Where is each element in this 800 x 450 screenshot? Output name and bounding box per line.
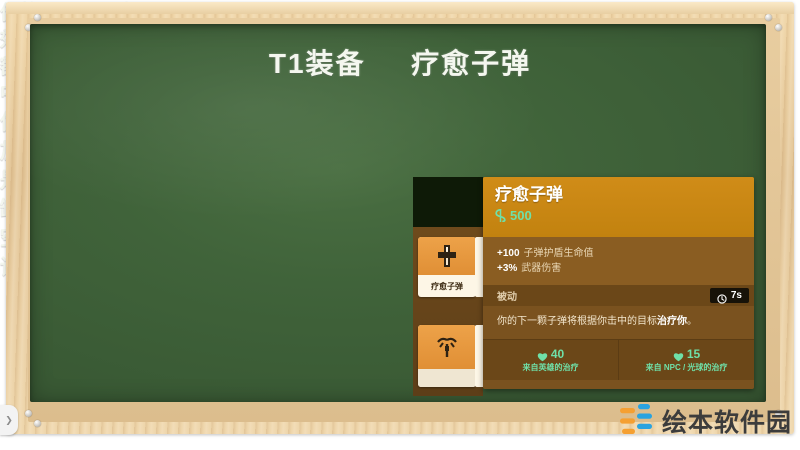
- frame-screw-icon: [765, 14, 772, 21]
- tooltip-stat-row: +3%武器伤害: [497, 261, 754, 276]
- tooltip-footer: 40 来自英雄的治疗 15 来自 NPC / 光球的治疗: [483, 339, 754, 380]
- soul-icon: [495, 209, 506, 222]
- cooldown-value: 7s: [731, 290, 742, 301]
- footer-stat-value: 40: [551, 347, 564, 361]
- item-shop-column: 疗愈子弹: [413, 177, 483, 396]
- stat-value: +100: [497, 248, 520, 259]
- shop-item-label: 疗愈子弹: [418, 275, 476, 297]
- bullet-cross-icon: [418, 237, 476, 275]
- tooltip-card: 疗愈子弹 500 +100子弹护盾生命值 +3%武器伤害: [483, 177, 754, 389]
- footer-stat-value: 15: [687, 347, 700, 361]
- clock-icon: [717, 291, 727, 301]
- tooltip-stats: +100子弹护盾生命值 +3%武器伤害: [483, 237, 754, 285]
- desc-highlight: 治疗你: [657, 316, 687, 327]
- stat-value: +3%: [497, 263, 517, 274]
- desc-prefix: 你的下一颗子弹将根据你击中的目标: [497, 316, 657, 327]
- frame-screw-icon: [34, 420, 41, 427]
- tooltip-item-name: 疗愈子弹: [495, 184, 754, 206]
- tooltip-stat-row: +100子弹护盾生命值: [497, 246, 754, 261]
- footer-stat-label: 来自 NPC / 光球的治疗: [646, 362, 728, 373]
- site-logo-icon: [617, 402, 655, 440]
- tooltip-cost-value: 500: [510, 208, 532, 223]
- shop-item-label: [418, 369, 476, 387]
- sidebar-expand-tab[interactable]: ❯: [0, 405, 18, 435]
- stat-label: 武器伤害: [521, 263, 561, 274]
- cooldown-badge: 7s: [710, 288, 749, 303]
- shop-item-healing-shot[interactable]: 疗愈子弹: [418, 237, 476, 297]
- frame-screw-icon: [775, 24, 782, 31]
- screenshot-root: T1装备 疗愈子弹 价格：500灵魂 效果：+100子弹护盾 +9%武器伤害 额…: [0, 0, 800, 450]
- chevron-right-icon: ❯: [5, 415, 13, 426]
- heart-icon: [673, 349, 684, 359]
- tooltip-header: 疗愈子弹 500: [483, 177, 754, 237]
- title-item-name: 疗愈子弹: [411, 48, 531, 79]
- tooltip-cost: 500: [495, 208, 754, 223]
- tooltip-description: 你的下一颗子弹将根据你击中的目标治疗你。: [483, 306, 754, 339]
- footer-stat-npc-heal: 15 来自 NPC / 光球的治疗: [618, 340, 754, 380]
- shop-column-header: [413, 177, 483, 227]
- spread-shot-icon: [418, 325, 476, 369]
- frame-screw-icon: [25, 410, 32, 417]
- footer-stat-label: 来自英雄的治疗: [523, 362, 579, 373]
- tooltip-passive-bar: 被动 7s: [483, 285, 754, 306]
- passive-label: 被动: [497, 288, 517, 303]
- page-title: T1装备 疗愈子弹: [0, 42, 800, 82]
- footer-stat-top: 15: [673, 347, 700, 361]
- desc-suffix: 。: [687, 316, 697, 327]
- item-tooltip-overlay: 疗愈子弹: [413, 177, 754, 396]
- footer-stat-top: 40: [537, 347, 564, 361]
- watermark-text: 绘本软件园: [662, 403, 792, 439]
- heart-icon: [537, 349, 548, 359]
- title-tier: T1装备: [269, 48, 366, 79]
- frame-screw-icon: [34, 14, 41, 21]
- shop-item-secondary[interactable]: [418, 325, 476, 387]
- stat-label: 子弹护盾生命值: [524, 248, 594, 259]
- footer-stat-hero-heal: 40 来自英雄的治疗: [483, 340, 618, 380]
- watermark: 绘本软件园: [617, 402, 792, 440]
